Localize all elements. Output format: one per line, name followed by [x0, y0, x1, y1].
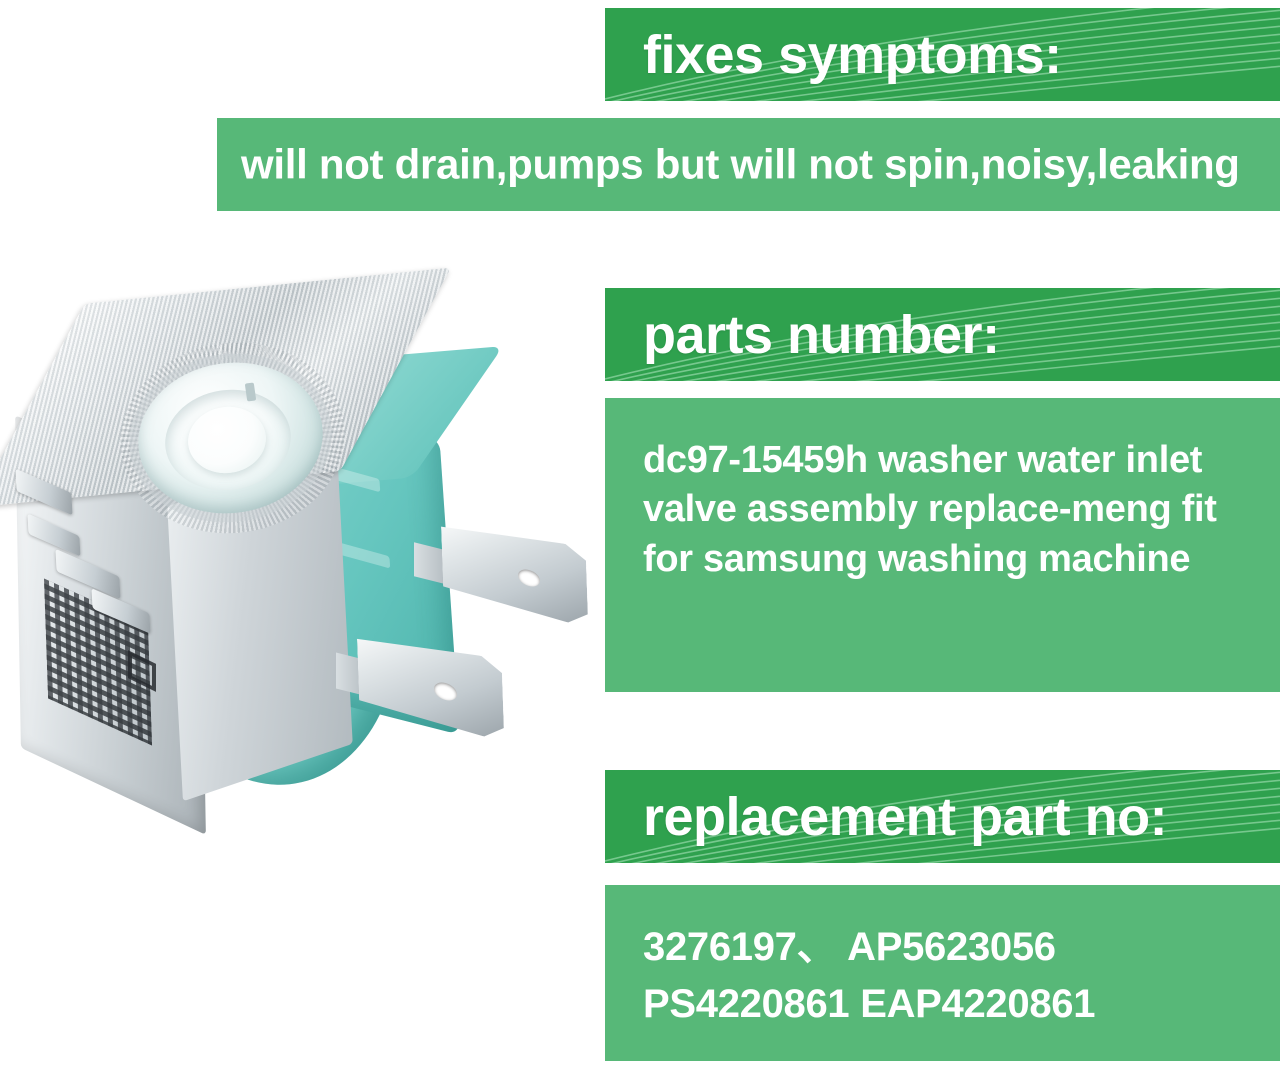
spade-terminal-upper [441, 517, 589, 627]
replacement-part-no-body-bar: 3276197、 AP5623056 PS4220861 EAP4220861 [605, 885, 1280, 1061]
parts-number-header-bar: parts number: [605, 288, 1280, 381]
replacement-part-no-line-2: PS4220861 EAP4220861 [643, 976, 1260, 1033]
replacement-part-no-header-label: replacement part no: [643, 786, 1167, 848]
parts-number-header-label: parts number: [643, 304, 1000, 366]
replacement-part-no-line-1: 3276197、 AP5623056 [643, 919, 1260, 976]
parts-number-body-bar: dc97-15459h washer water inlet valve ass… [605, 398, 1280, 692]
fixes-symptoms-header-label: fixes symptoms: [643, 24, 1062, 86]
replacement-part-no-lines: 3276197、 AP5623056 PS4220861 EAP4220861 [643, 919, 1260, 1033]
parts-number-body-text: dc97-15459h washer water inlet valve ass… [643, 436, 1254, 584]
fixes-symptoms-body-text: will not drain,pumps but will not spin,n… [241, 137, 1240, 192]
fixes-symptoms-body-bar: will not drain,pumps but will not spin,n… [217, 118, 1280, 211]
valve-assembly-illustration [10, 285, 590, 875]
fixes-symptoms-header-bar: fixes symptoms: [605, 8, 1280, 101]
replacement-part-no-header-bar: replacement part no: [605, 770, 1280, 863]
